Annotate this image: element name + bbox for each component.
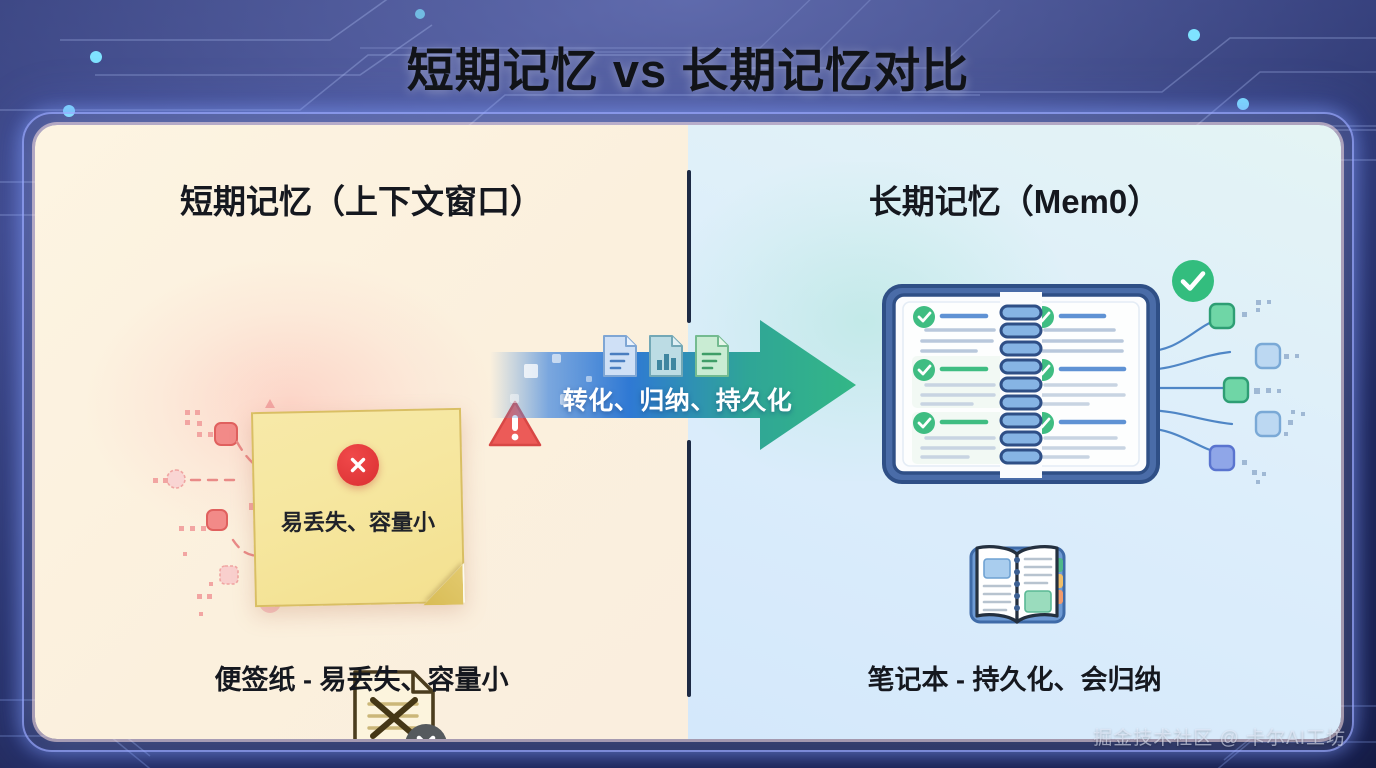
spiral-notebook-icon: [876, 278, 1166, 490]
check-circle-icon: [1170, 258, 1216, 304]
long-term-memory-heading: 长期记忆（Mem0）: [688, 175, 1341, 223]
document-green-icon: [694, 334, 730, 378]
notebook-spiral: [1000, 292, 1042, 478]
arrow-label: 转化、归纳、持久化: [545, 381, 810, 417]
document-blue-icon: [602, 334, 638, 378]
page-title: 短期记忆 vs 长期记忆对比: [0, 32, 1376, 101]
short-term-memory-caption: 便签纸 - 易丢失、容量小: [35, 658, 688, 697]
long-term-memory-caption: 笔记本 - 持久化、会归纳: [688, 658, 1341, 697]
sticky-note-text: 易丢失、容量小: [253, 505, 463, 537]
short-term-memory-heading: 短期记忆（上下文窗口）: [35, 175, 688, 223]
open-book-icon: [965, 532, 1070, 632]
watermark: 掘金技术社区 @ 卡尔AI工坊: [1093, 723, 1346, 750]
chart-bar-icon: [648, 334, 684, 378]
x-circle-icon: [337, 444, 379, 486]
sticky-note: 易丢失、容量小: [253, 410, 463, 605]
